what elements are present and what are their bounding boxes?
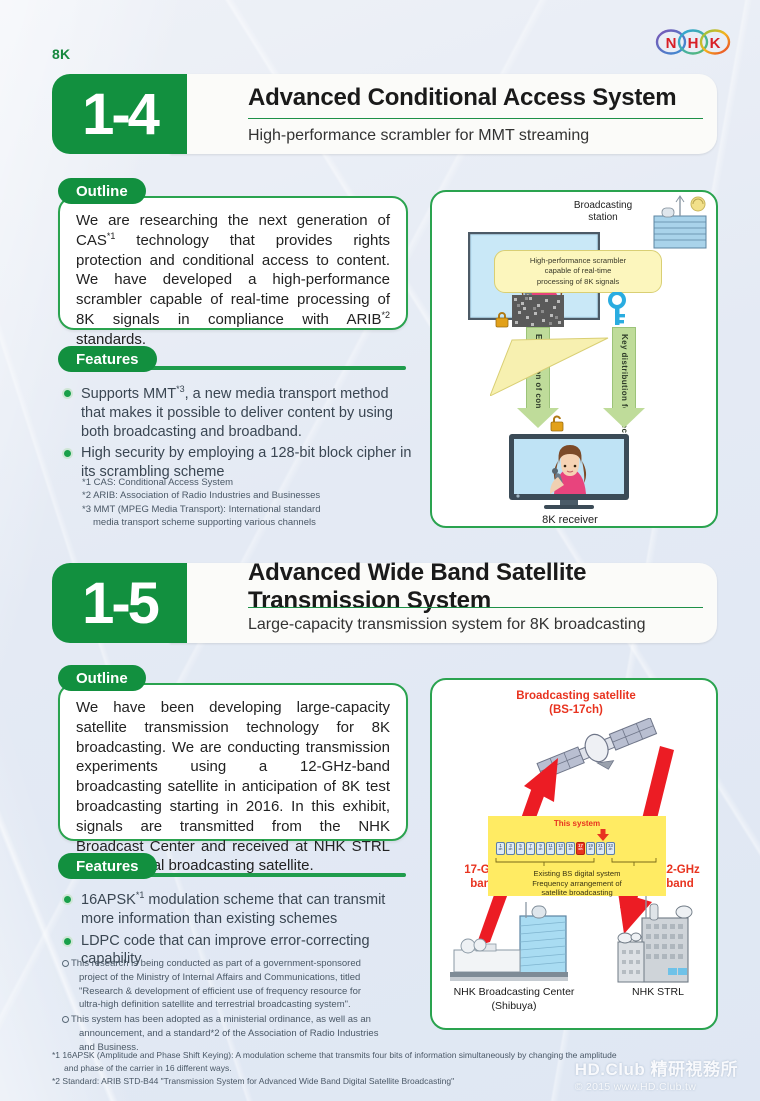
satellite-diagram: Broadcasting satellite (BS-17ch) bbox=[430, 678, 718, 1030]
channel-box: 15ch bbox=[566, 842, 575, 855]
feature-item: 16APSK*1 modulation scheme that can tran… bbox=[62, 890, 412, 929]
circle-note-body: This research is being conducted as part… bbox=[71, 957, 361, 1012]
section-header-1-4: Advanced Conditional Access System High-… bbox=[52, 74, 717, 154]
features-label-group-1-4: Features bbox=[58, 346, 408, 372]
svg-text:H: H bbox=[688, 35, 699, 52]
channel-box: 21ch bbox=[596, 842, 605, 855]
outline-label: Outline bbox=[58, 665, 146, 691]
note-line: *3 MMT (MPEG Media Transport): Internati… bbox=[82, 503, 412, 516]
this-system-label: This system bbox=[488, 819, 666, 828]
outline-text: We are researching the next generation o… bbox=[60, 198, 406, 360]
circle-bullet-icon bbox=[62, 960, 69, 967]
svg-text:N: N bbox=[666, 35, 677, 52]
poster-page: 8K N H K Advanced Conditi bbox=[0, 0, 760, 1101]
feature-text: 16APSK*1 modulation scheme that can tran… bbox=[81, 890, 412, 929]
section-number: 1-4 bbox=[52, 74, 187, 154]
feature-text: Supports MMT*3, a new media transport me… bbox=[81, 384, 412, 441]
lock-open-icon bbox=[548, 414, 566, 432]
outline-card-1-4: We are researching the next generation o… bbox=[58, 196, 408, 330]
nhk-broadcasting-center-icon bbox=[446, 902, 578, 988]
nhk-strl-icon bbox=[610, 894, 706, 988]
outline-card-1-5: We have been developing large-capacity s… bbox=[58, 683, 408, 841]
watermark: HD.Club 精研視務所 © 2015 www.HD.Club.tw bbox=[575, 1055, 738, 1093]
scrambled-content-icon bbox=[512, 295, 564, 327]
features-label-group-1-5: Features bbox=[58, 853, 408, 879]
broadcasting-station-label: Broadcasting station bbox=[558, 200, 648, 223]
badge-8k: 8K bbox=[52, 46, 70, 62]
channel-strip: 1ch 3ch 5ch 7ch 9ch 11ch 13ch 15ch 17ch … bbox=[496, 842, 615, 855]
channel-box: 9ch bbox=[536, 842, 545, 855]
circle-note: This research is being conducted as part… bbox=[62, 957, 412, 1012]
notes-1-4: *1 CAS: Conditional Access System *2 ARI… bbox=[82, 476, 412, 530]
bullet-icon bbox=[62, 894, 73, 905]
watermark-line-1: HD.Club 精研視務所 bbox=[575, 1055, 738, 1080]
section-title-panel: Advanced Conditional Access System High-… bbox=[170, 74, 717, 154]
circle-bullet-icon bbox=[62, 1016, 69, 1023]
key-icon bbox=[606, 292, 628, 326]
channel-box-highlight: 17ch bbox=[576, 842, 585, 855]
section-title-panel: Advanced Wide Band Satellite Transmissio… bbox=[170, 563, 717, 643]
frequency-panel: This system 1ch 3ch 5ch 7ch 9ch 11ch 13c… bbox=[488, 816, 666, 896]
section-header-1-5: Advanced Wide Band Satellite Transmissio… bbox=[52, 563, 717, 643]
right-building-label: NHK STRL bbox=[598, 986, 718, 998]
features-label: Features bbox=[58, 346, 157, 372]
bullet-icon bbox=[62, 936, 73, 947]
features-list-1-4: Supports MMT*3, a new media transport me… bbox=[62, 384, 412, 485]
watermark-line-2: © 2015 www.HD.Club.tw bbox=[575, 1081, 738, 1093]
channel-box: 13ch bbox=[556, 842, 565, 855]
note-line: *2 ARIB: Association of Radio Industries… bbox=[82, 489, 412, 502]
section-title: Advanced Wide Band Satellite Transmissio… bbox=[248, 567, 703, 607]
bullet-icon bbox=[62, 448, 73, 459]
existing-system-label: Existing BS digital system bbox=[488, 869, 666, 878]
note-line: *1 CAS: Conditional Access System bbox=[82, 476, 412, 489]
frequency-braces-icon bbox=[494, 856, 662, 870]
channel-box: 19ch bbox=[586, 842, 595, 855]
channel-box: 23ch bbox=[606, 842, 615, 855]
nhk-logo: N H K bbox=[654, 27, 732, 57]
section-subtitle: Large-capacity transmission system for 8… bbox=[248, 608, 703, 642]
channel-box: 5ch bbox=[516, 842, 525, 855]
scrambler-callout: High-performance scrambler capable of re… bbox=[494, 250, 662, 293]
note-line: media transport scheme supporting variou… bbox=[82, 516, 412, 529]
receiver-tv-icon bbox=[508, 433, 630, 511]
key-arrow-head bbox=[603, 408, 645, 428]
channel-box: 3ch bbox=[506, 842, 515, 855]
lock-closed-icon bbox=[494, 310, 510, 328]
section-number: 1-5 bbox=[52, 563, 187, 643]
section-title: Advanced Conditional Access System bbox=[248, 78, 703, 118]
channel-box: 1ch bbox=[496, 842, 505, 855]
cas-diagram: Broadcasting station bbox=[430, 190, 718, 528]
receiver-label: 8K receiver bbox=[520, 514, 620, 527]
channel-box: 11ch bbox=[546, 842, 555, 855]
channel-box: 7ch bbox=[526, 842, 535, 855]
section-subtitle: High-performance scrambler for MMT strea… bbox=[248, 119, 703, 153]
satellite-title: Broadcasting satellite (BS-17ch) bbox=[458, 690, 694, 718]
features-label: Features bbox=[58, 853, 157, 879]
svg-text:K: K bbox=[710, 35, 721, 52]
outline-label: Outline bbox=[58, 178, 146, 204]
left-building-label: NHK Broadcasting Center (Shibuya) bbox=[434, 986, 594, 1013]
this-system-arrow-icon bbox=[596, 829, 610, 842]
feature-item: Supports MMT*3, a new media transport me… bbox=[62, 384, 412, 441]
circle-notes-1-5: This research is being conducted as part… bbox=[62, 957, 412, 1055]
station-building-icon bbox=[640, 194, 712, 252]
bullet-icon bbox=[62, 388, 73, 399]
